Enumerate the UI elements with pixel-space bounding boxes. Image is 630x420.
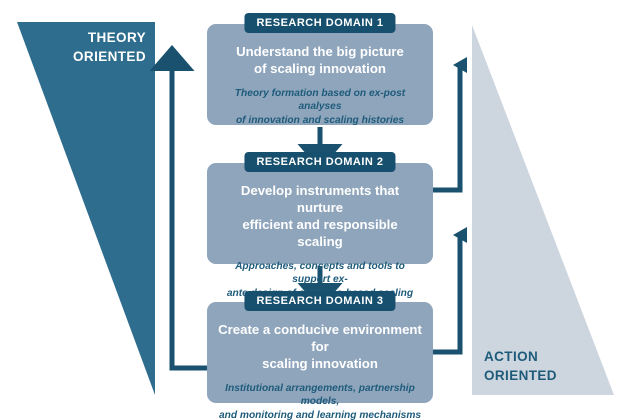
arrow-domain3-to-domain1-left-feedback [166,58,207,369]
research-domain-2-badge: RESEARCH DOMAIN 2 [244,152,395,172]
research-domain-3-box[interactable]: RESEARCH DOMAIN 3 Create a conducive env… [207,302,433,403]
theory-oriented-label: THEORY ORIENTED [0,28,146,66]
diagram-canvas: THEORY ORIENTED ACTION ORIENTED [0,0,630,420]
research-domain-2-title: Develop instruments that nurture efficie… [218,183,422,251]
research-domain-1-badge: RESEARCH DOMAIN 1 [244,13,395,33]
research-domain-2-box[interactable]: RESEARCH DOMAIN 2 Develop instruments th… [207,163,433,264]
research-domain-3-badge: RESEARCH DOMAIN 3 [244,291,395,311]
action-oriented-label: ACTION ORIENTED [484,347,624,385]
action-oriented-wedge-shape [472,25,614,395]
arrow-domain2-to-domain1-right-feedback [433,57,467,190]
research-domain-1-title: Understand the big picture of scaling in… [218,44,422,78]
theory-oriented-wedge-shape [17,22,155,395]
research-domain-3-subtitle: Institutional arrangements, partnership … [218,382,422,420]
arrow-domain3-to-domain2-right-feedback [433,227,467,352]
research-domain-1-box[interactable]: RESEARCH DOMAIN 1 Understand the big pic… [207,24,433,125]
research-domain-3-title: Create a conducive environment for scali… [218,322,422,373]
research-domain-1-subtitle: Theory formation based on ex-post analys… [218,87,422,128]
